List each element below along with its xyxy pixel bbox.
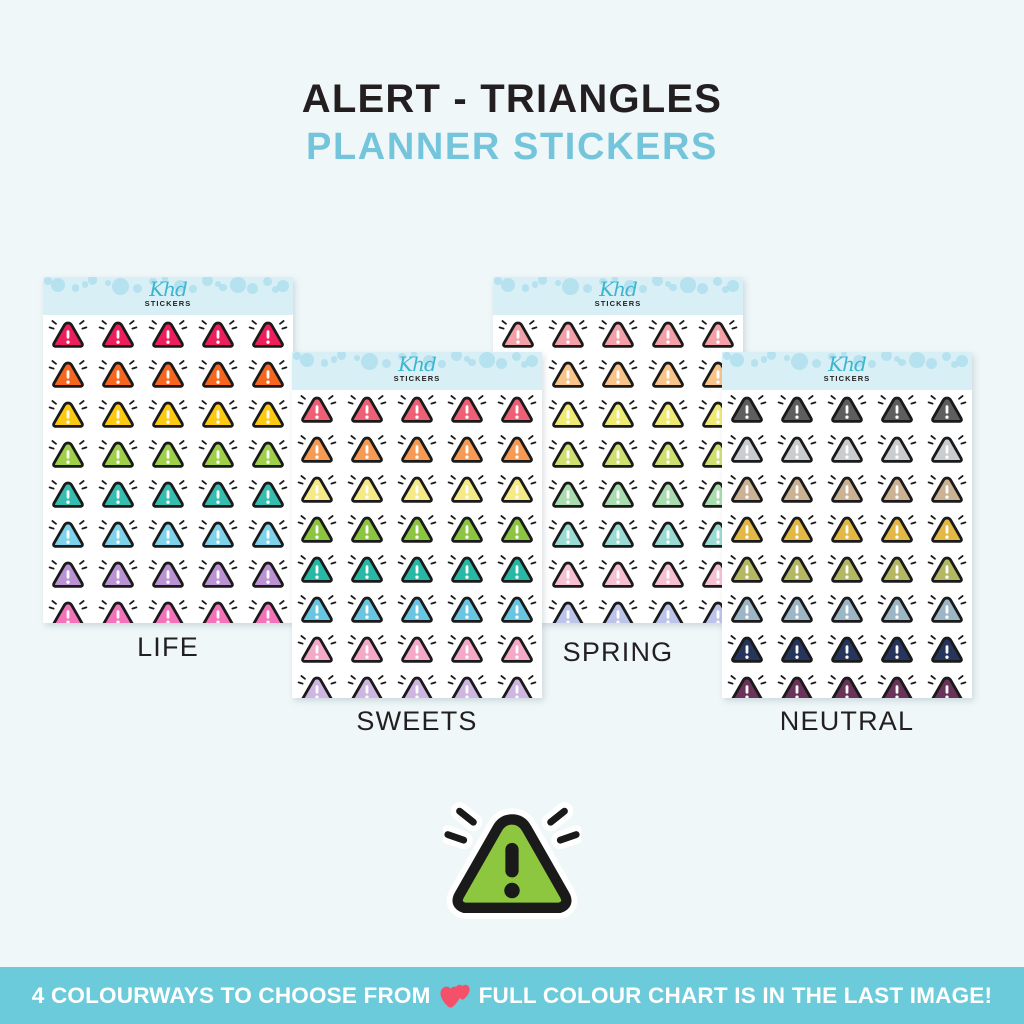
sticker-row <box>292 510 542 550</box>
alert-triangle-icon[interactable] <box>48 475 88 515</box>
sticker-row <box>722 590 972 630</box>
sheet-label-sweets: SWEETS <box>292 706 542 737</box>
brand-script-text: Khd <box>292 354 542 374</box>
alert-triangle-icon[interactable] <box>98 515 138 555</box>
alert-triangle-icon[interactable] <box>447 510 487 550</box>
alert-triangle-icon[interactable] <box>98 395 138 435</box>
alert-triangle-icon[interactable] <box>727 470 767 510</box>
sticker-row <box>292 470 542 510</box>
sticker-row <box>43 595 293 623</box>
alert-triangle-icon[interactable] <box>148 355 188 395</box>
alert-triangle-icon[interactable] <box>598 355 638 395</box>
sticker-grid <box>292 390 542 698</box>
alert-triangle-icon[interactable] <box>397 430 437 470</box>
brand-sub-text: STICKERS <box>43 300 293 308</box>
alert-triangle-icon[interactable] <box>297 670 337 698</box>
alert-triangle-icon[interactable] <box>727 630 767 670</box>
sticker-row <box>292 390 542 430</box>
alert-triangle-icon[interactable] <box>548 355 588 395</box>
alert-triangle-icon[interactable] <box>927 630 967 670</box>
alert-triangle-icon[interactable] <box>548 595 588 623</box>
footer-text-right: FULL COLOUR CHART IS IN THE LAST IMAGE! <box>479 983 993 1009</box>
sheet-label-life: LIFE <box>43 632 293 663</box>
page-subtitle: PLANNER STICKERS <box>0 128 1024 168</box>
sticker-row <box>493 315 743 355</box>
alert-triangle-icon[interactable] <box>397 590 437 630</box>
alert-triangle-icon[interactable] <box>727 670 767 698</box>
alert-triangle-icon[interactable] <box>148 475 188 515</box>
alert-triangle-icon[interactable] <box>877 390 917 430</box>
alert-triangle-icon[interactable] <box>297 510 337 550</box>
alert-triangle-icon[interactable] <box>598 395 638 435</box>
alert-triangle-icon[interactable] <box>877 630 917 670</box>
sticker-grid <box>43 315 293 623</box>
alert-triangle-icon[interactable] <box>198 515 238 555</box>
alert-triangle-icon[interactable] <box>347 510 387 550</box>
alert-triangle-icon[interactable] <box>297 590 337 630</box>
brand-logo: KhdSTICKERS <box>493 279 743 308</box>
brand-script-text: Khd <box>722 354 972 374</box>
sticker-row <box>43 555 293 595</box>
alert-triangle-icon[interactable] <box>877 430 917 470</box>
alert-triangle-icon[interactable] <box>347 470 387 510</box>
alert-triangle-icon[interactable] <box>297 430 337 470</box>
alert-triangle-icon[interactable] <box>727 390 767 430</box>
alert-triangle-icon[interactable] <box>497 590 537 630</box>
page-title: ALERT - TRIANGLES <box>0 78 1024 120</box>
alert-triangle-icon[interactable] <box>447 590 487 630</box>
alert-triangle-icon[interactable] <box>598 315 638 355</box>
alert-triangle-icon[interactable] <box>598 515 638 555</box>
sheet-header-band: KhdSTICKERS <box>722 352 972 390</box>
alert-triangle-icon[interactable] <box>598 555 638 595</box>
alert-triangle-icon[interactable] <box>827 630 867 670</box>
alert-triangle-icon[interactable] <box>198 435 238 475</box>
alert-triangle-icon[interactable] <box>148 595 188 623</box>
sticker-row <box>722 470 972 510</box>
alert-triangle-icon[interactable] <box>148 555 188 595</box>
sheet-label-neutral: NEUTRAL <box>722 706 972 737</box>
alert-triangle-icon[interactable] <box>648 355 688 395</box>
alert-triangle-icon[interactable] <box>148 515 188 555</box>
alert-triangle-icon[interactable] <box>877 670 917 698</box>
alert-triangle-icon[interactable] <box>727 510 767 550</box>
alert-triangle-icon[interactable] <box>397 390 437 430</box>
hearts-icon <box>440 983 470 1009</box>
alert-triangle-icon[interactable] <box>297 630 337 670</box>
brand-logo: KhdSTICKERS <box>722 354 972 383</box>
alert-triangle-icon[interactable] <box>98 435 138 475</box>
alert-triangle-icon[interactable] <box>148 315 188 355</box>
alert-triangle-icon[interactable] <box>447 430 487 470</box>
alert-triangle-icon[interactable] <box>777 390 817 430</box>
alert-triangle-icon[interactable] <box>777 590 817 630</box>
alert-triangle-icon[interactable] <box>648 475 688 515</box>
alert-triangle-icon[interactable] <box>248 355 288 395</box>
alert-triangle-icon[interactable] <box>648 555 688 595</box>
brand-script-text: Khd <box>43 279 293 299</box>
hero-alert-triangle-sticker <box>443 796 581 939</box>
alert-triangle-icon[interactable] <box>397 630 437 670</box>
sticker-row <box>43 315 293 355</box>
alert-triangle-icon[interactable] <box>927 470 967 510</box>
alert-triangle-icon[interactable] <box>98 555 138 595</box>
alert-triangle-icon[interactable] <box>548 555 588 595</box>
alert-triangle-icon[interactable] <box>347 630 387 670</box>
alert-triangle-icon[interactable] <box>598 435 638 475</box>
sticker-row <box>43 515 293 555</box>
brand-logo: KhdSTICKERS <box>43 279 293 308</box>
alert-triangle-icon[interactable] <box>777 630 817 670</box>
alert-triangle-icon[interactable] <box>827 510 867 550</box>
alert-triangle-icon[interactable] <box>98 595 138 623</box>
alert-triangle-icon[interactable] <box>777 550 817 590</box>
alert-triangle-icon[interactable] <box>198 475 238 515</box>
sticker-row <box>43 435 293 475</box>
alert-triangle-icon[interactable] <box>698 315 738 355</box>
sticker-row <box>292 590 542 630</box>
alert-triangle-icon[interactable] <box>777 670 817 698</box>
alert-triangle-icon[interactable] <box>447 670 487 698</box>
alert-triangle-icon[interactable] <box>877 590 917 630</box>
alert-triangle-icon[interactable] <box>648 595 688 623</box>
alert-triangle-icon[interactable] <box>447 470 487 510</box>
alert-triangle-icon[interactable] <box>497 430 537 470</box>
sticker-row <box>722 550 972 590</box>
alert-triangle-icon[interactable] <box>598 475 638 515</box>
alert-triangle-icon[interactable] <box>48 555 88 595</box>
alert-triangle-icon[interactable] <box>198 355 238 395</box>
alert-triangle-icon[interactable] <box>777 510 817 550</box>
alert-triangle-icon[interactable] <box>198 555 238 595</box>
alert-triangle-icon[interactable] <box>248 555 288 595</box>
sticker-grid <box>722 390 972 698</box>
alert-triangle-icon[interactable] <box>548 475 588 515</box>
alert-triangle-icon[interactable] <box>248 475 288 515</box>
sticker-row <box>43 475 293 515</box>
alert-triangle-icon[interactable] <box>148 395 188 435</box>
alert-triangle-icon[interactable] <box>347 430 387 470</box>
alert-triangle-icon[interactable] <box>927 510 967 550</box>
alert-triangle-icon[interactable] <box>877 470 917 510</box>
alert-triangle-icon[interactable] <box>48 395 88 435</box>
sticker-row <box>292 550 542 590</box>
sticker-row <box>722 390 972 430</box>
alert-triangle-icon[interactable] <box>347 590 387 630</box>
alert-triangle-icon[interactable] <box>397 550 437 590</box>
brand-logo: KhdSTICKERS <box>292 354 542 383</box>
sticker-row <box>292 630 542 670</box>
alert-triangle-icon[interactable] <box>548 395 588 435</box>
alert-triangle-icon[interactable] <box>498 315 538 355</box>
alert-triangle-icon[interactable] <box>198 315 238 355</box>
alert-triangle-icon[interactable] <box>727 590 767 630</box>
alert-triangle-icon[interactable] <box>827 470 867 510</box>
alert-triangle-icon[interactable] <box>248 315 288 355</box>
alert-triangle-icon[interactable] <box>777 470 817 510</box>
sheet-header-band: KhdSTICKERS <box>43 277 293 315</box>
sticker-row <box>43 395 293 435</box>
alert-triangle-icon[interactable] <box>48 515 88 555</box>
alert-triangle-icon[interactable] <box>497 470 537 510</box>
alert-triangle-icon[interactable] <box>248 515 288 555</box>
alert-triangle-icon[interactable] <box>827 430 867 470</box>
alert-triangle-icon[interactable] <box>497 510 537 550</box>
alert-triangle-icon[interactable] <box>727 550 767 590</box>
alert-triangle-icon[interactable] <box>48 595 88 623</box>
alert-triangle-icon[interactable] <box>347 550 387 590</box>
alert-triangle-icon[interactable] <box>148 435 188 475</box>
alert-triangle-icon[interactable] <box>548 315 588 355</box>
alert-triangle-icon[interactable] <box>48 315 88 355</box>
alert-triangle-icon[interactable] <box>648 515 688 555</box>
alert-triangle-icon[interactable] <box>297 470 337 510</box>
alert-triangle-icon[interactable] <box>497 390 537 430</box>
alert-triangle-icon[interactable] <box>497 670 537 698</box>
alert-triangle-icon[interactable] <box>347 670 387 698</box>
alert-triangle-icon[interactable] <box>827 390 867 430</box>
alert-triangle-icon[interactable] <box>827 550 867 590</box>
sticker-row <box>722 430 972 470</box>
alert-triangle-icon[interactable] <box>497 550 537 590</box>
alert-triangle-icon[interactable] <box>248 595 288 623</box>
alert-triangle-icon[interactable] <box>548 435 588 475</box>
alert-triangle-icon[interactable] <box>648 315 688 355</box>
alert-triangle-icon[interactable] <box>297 550 337 590</box>
alert-triangle-icon[interactable] <box>198 595 238 623</box>
sticker-sheet-sweets[interactable]: KhdSTICKERS <box>292 352 542 698</box>
sticker-row <box>43 355 293 395</box>
alert-triangle-icon[interactable] <box>827 670 867 698</box>
alert-triangle-icon[interactable] <box>248 435 288 475</box>
alert-triangle-icon[interactable] <box>648 435 688 475</box>
alert-triangle-icon[interactable] <box>297 390 337 430</box>
alert-triangle-icon[interactable] <box>447 550 487 590</box>
sheet-header-band: KhdSTICKERS <box>292 352 542 390</box>
alert-triangle-icon[interactable] <box>198 395 238 435</box>
alert-triangle-icon[interactable] <box>248 395 288 435</box>
alert-triangle-icon[interactable] <box>927 590 967 630</box>
sticker-sheet-neutral[interactable]: KhdSTICKERS <box>722 352 972 698</box>
alert-triangle-icon[interactable] <box>397 510 437 550</box>
alert-triangle-icon[interactable] <box>877 550 917 590</box>
alert-triangle-icon[interactable] <box>497 630 537 670</box>
alert-triangle-icon[interactable] <box>447 390 487 430</box>
footer-banner: 4 COLOURWAYS TO CHOOSE FROM FULL COLOUR … <box>0 967 1024 1024</box>
alert-triangle-icon[interactable] <box>598 595 638 623</box>
alert-triangle-icon[interactable] <box>397 470 437 510</box>
alert-triangle-icon[interactable] <box>777 430 817 470</box>
sticker-row <box>722 510 972 550</box>
alert-triangle-icon[interactable] <box>727 430 767 470</box>
sticker-sheet-life[interactable]: KhdSTICKERS <box>43 277 293 623</box>
alert-triangle-icon[interactable] <box>927 430 967 470</box>
alert-triangle-icon[interactable] <box>447 630 487 670</box>
alert-triangle-icon[interactable] <box>927 550 967 590</box>
page-title-block: ALERT - TRIANGLES PLANNER STICKERS <box>0 78 1024 168</box>
sticker-row <box>722 630 972 670</box>
footer-text-left: 4 COLOURWAYS TO CHOOSE FROM <box>32 983 431 1009</box>
alert-triangle-icon[interactable] <box>927 670 967 698</box>
sticker-row <box>292 430 542 470</box>
alert-triangle-icon[interactable] <box>48 355 88 395</box>
alert-triangle-icon[interactable] <box>347 390 387 430</box>
alert-triangle-icon[interactable] <box>98 315 138 355</box>
brand-script-text: Khd <box>493 279 743 299</box>
alert-triangle-icon[interactable] <box>648 395 688 435</box>
brand-sub-text: STICKERS <box>722 375 972 383</box>
brand-sub-text: STICKERS <box>493 300 743 308</box>
alert-triangle-icon[interactable] <box>397 670 437 698</box>
alert-triangle-icon[interactable] <box>98 475 138 515</box>
alert-triangle-icon[interactable] <box>548 515 588 555</box>
alert-triangle-icon[interactable] <box>48 435 88 475</box>
alert-triangle-icon[interactable] <box>927 390 967 430</box>
sheet-header-band: KhdSTICKERS <box>493 277 743 315</box>
sticker-row <box>292 670 542 698</box>
alert-triangle-icon[interactable] <box>98 355 138 395</box>
alert-triangle-icon[interactable] <box>827 590 867 630</box>
brand-sub-text: STICKERS <box>292 375 542 383</box>
alert-triangle-icon[interactable] <box>877 510 917 550</box>
sticker-row <box>722 670 972 698</box>
